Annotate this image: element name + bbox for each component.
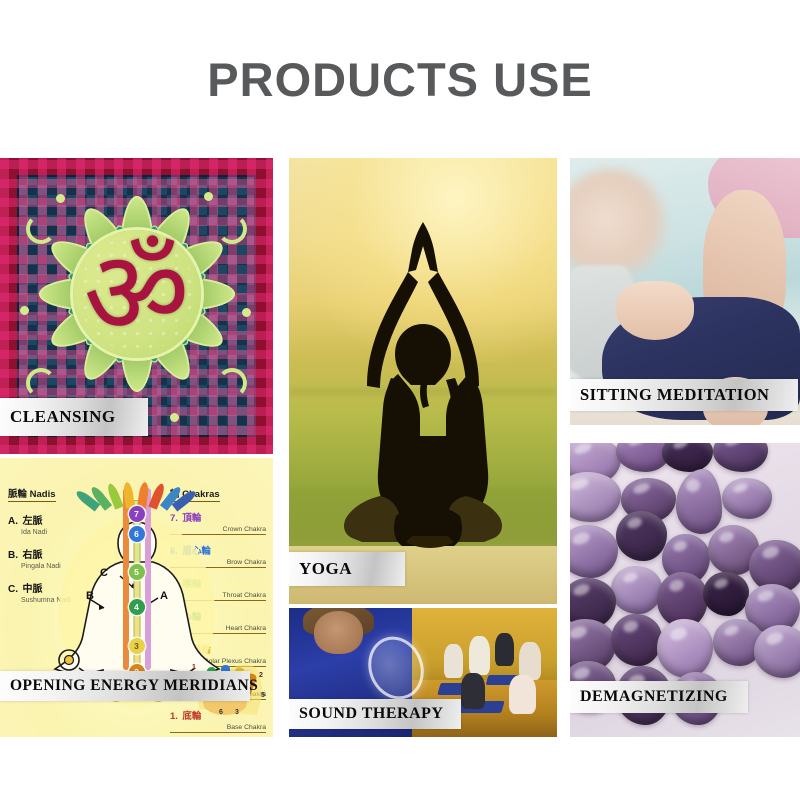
mandala-dot — [20, 306, 29, 315]
tile-cleansing[interactable]: ॐ CLEANSING — [0, 158, 273, 454]
mandala-swirl-icon — [217, 214, 247, 244]
mandala-dot — [204, 192, 213, 201]
tile-yoga[interactable]: YOGA — [289, 158, 557, 604]
chakra-node-7: 7 — [129, 506, 145, 522]
mandala-dot — [170, 413, 179, 422]
tile-caption-yoga: YOGA — [289, 552, 405, 586]
face — [314, 611, 363, 655]
hand-mudra — [616, 281, 694, 340]
mandala-swirl-icon — [26, 368, 56, 398]
tile-caption-demagnetizing: DEMAGNETIZING — [570, 681, 748, 713]
om-symbol-icon: ॐ — [84, 236, 190, 352]
class-participant — [469, 636, 490, 675]
page-title: PRODUCTS USE — [0, 52, 800, 107]
nadis-label-cn: 中脈 — [22, 584, 42, 595]
chakra-node-6: 6 — [129, 526, 145, 542]
yoga-silhouette — [336, 216, 510, 552]
tile-demagnetizing[interactable]: DEMAGNETIZING — [570, 443, 800, 737]
lotus-pose-figure-icon — [336, 216, 510, 552]
class-participant — [495, 633, 514, 667]
svg-text:2: 2 — [259, 672, 263, 679]
amethyst-stone — [611, 614, 662, 667]
class-participant — [461, 673, 485, 709]
nadi-ida-channel — [123, 488, 129, 670]
tile-sitting-meditation[interactable]: SITTING MEDITATION — [570, 158, 800, 425]
tile-caption-sitting-meditation: SITTING MEDITATION — [570, 379, 798, 411]
tile-sound-therapy[interactable]: SOUND THERAPY — [289, 608, 557, 737]
class-participant — [509, 675, 536, 714]
mandala-swirl-icon — [217, 368, 247, 398]
chakra-node-4: 4 — [129, 599, 145, 615]
tile-opening-energy-meridians[interactable]: 脈輪 Nadis A. 左脈 Ida Nadi B. 右脈 Pingala Na… — [0, 458, 273, 737]
mandala-dot — [242, 308, 251, 317]
chakra-node-5: 5 — [129, 564, 145, 580]
mandala-swirl-icon — [26, 214, 56, 244]
nadis-letter: C. — [8, 584, 18, 595]
tile-caption-cleansing: CLEANSING — [0, 398, 148, 436]
svg-text:1: 1 — [192, 664, 196, 671]
tile-caption-sound-therapy: SOUND THERAPY — [289, 699, 461, 729]
svg-text:6: 6 — [219, 709, 223, 715]
svg-text:3: 3 — [235, 709, 239, 715]
nadis-letter: A. — [8, 516, 18, 527]
crown-lotus-icon — [91, 474, 183, 508]
nadis-label-cn: 右脈 — [22, 550, 42, 561]
tile-caption-meridians: OPENING ENERGY MERIDIANS — [0, 671, 250, 701]
amethyst-stone — [657, 619, 712, 678]
nadis-label-cn: 左脈 — [22, 516, 42, 527]
nadis-letter: B. — [8, 550, 18, 561]
nadi-pingala-channel — [145, 488, 151, 670]
amethyst-stone — [616, 511, 667, 561]
amethyst-stone — [611, 566, 662, 613]
svg-text:5: 5 — [261, 692, 265, 699]
nadis-heading: 脈輪 Nadis — [8, 486, 56, 502]
class-participant — [444, 644, 463, 678]
chakra-node-3: 3 — [129, 638, 145, 654]
chakra-label-en: Base Chakra — [170, 724, 266, 731]
mandala-dot — [56, 194, 65, 203]
product-use-infographic: PRODUCTS USE — [0, 0, 800, 800]
